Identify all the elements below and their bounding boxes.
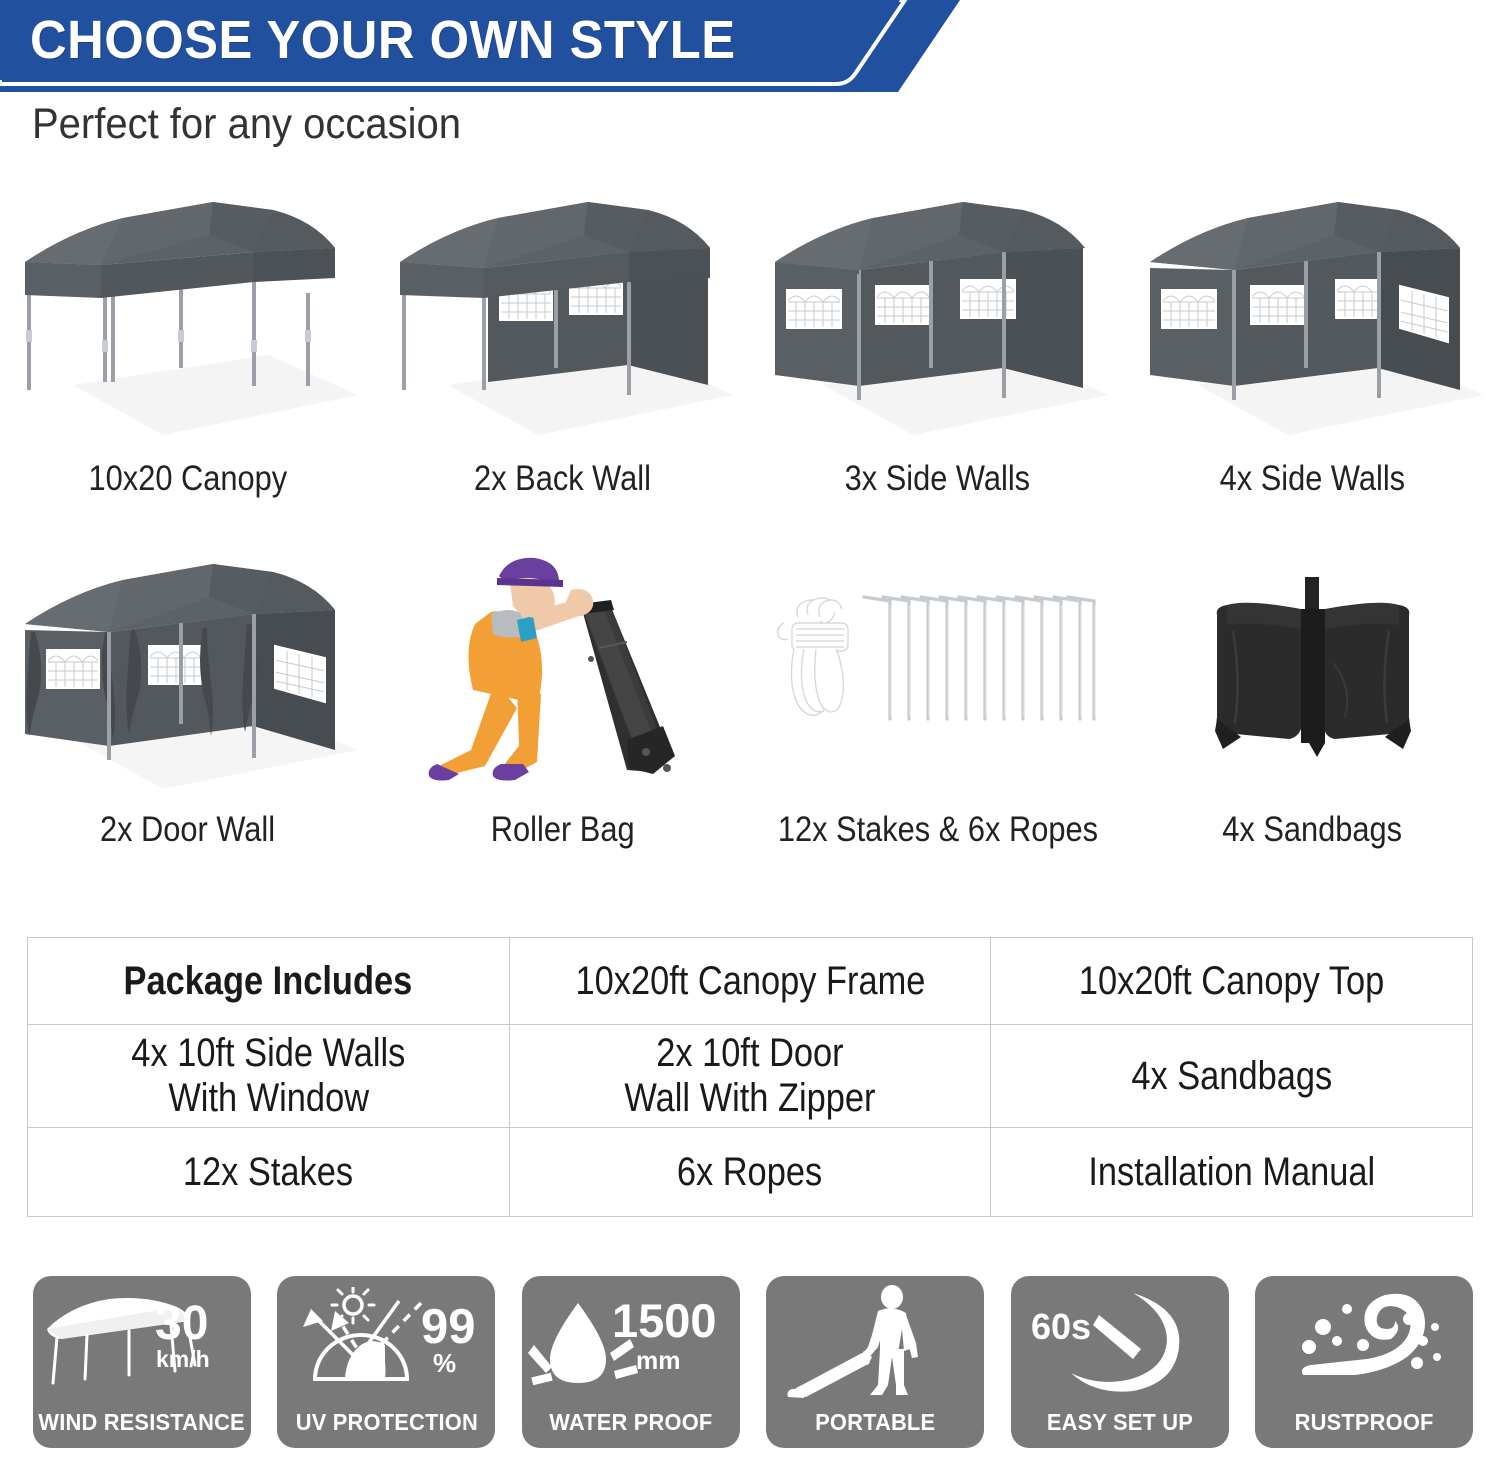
table-cell-package-includes: Package Includes	[28, 938, 510, 1025]
product-label: 10x20 Canopy	[88, 459, 287, 499]
canopy-door-wall-icon	[0, 551, 375, 806]
product-label: 4x Side Walls	[1220, 459, 1405, 499]
product-cell-roller-bag: Roller Bag	[375, 551, 750, 850]
subtitle: Perfect for any occasion	[32, 100, 461, 149]
table-row: Package Includes 10x20ft Canopy Frame 10…	[28, 938, 1473, 1025]
person-carrying-bag-icon	[766, 1276, 984, 1409]
water-droplet-icon: 1500 mm	[522, 1276, 740, 1409]
sandbag-icon	[1125, 551, 1500, 806]
product-cell-3-side-walls: 3x Side Walls	[750, 185, 1125, 499]
product-label: 2x Door Wall	[100, 810, 275, 850]
feature-water-proof: 1500 mm WATER PROOF	[522, 1276, 740, 1448]
product-cell-door-wall: 2x Door Wall	[0, 551, 375, 850]
svg-text:1500: 1500	[612, 1294, 717, 1347]
feature-label: PORTABLE	[815, 1409, 935, 1448]
stakes-ropes-icon	[750, 551, 1125, 806]
product-row-1: 10x20 Canopy	[0, 185, 1500, 499]
product-label: 12x Stakes & 6x Ropes	[777, 810, 1097, 850]
product-label: Roller Bag	[491, 810, 635, 850]
canopy-back-wall-icon	[375, 185, 750, 455]
svg-text:60s: 60s	[1031, 1306, 1091, 1347]
person-roller-bag-icon	[375, 551, 750, 806]
table-cell-stakes: 12x Stakes	[28, 1128, 510, 1217]
feature-label: RUSTPROOF	[1294, 1409, 1433, 1448]
canopy-3-side-walls-icon	[750, 185, 1125, 455]
sun-rays-dome-icon: 99 %	[277, 1276, 495, 1409]
svg-text:km/h: km/h	[156, 1346, 210, 1372]
product-cell-sandbags: 4x Sandbags	[1125, 551, 1500, 850]
wind-swirl-icon	[1255, 1276, 1473, 1409]
feature-label: EASY SET UP	[1046, 1409, 1192, 1448]
feature-portable: PORTABLE	[766, 1276, 984, 1448]
feature-wind-resistance: 30 km/h WIND RESISTANCE	[33, 1276, 251, 1448]
product-label: 3x Side Walls	[845, 459, 1030, 499]
table-cell-sandbags: 4x Sandbags	[991, 1025, 1473, 1128]
table-cell-canopy-top: 10x20ft Canopy Top	[991, 938, 1473, 1025]
table-cell-side-walls: 4x 10ft Side Walls With Window	[28, 1025, 510, 1128]
feature-easy-set-up: 60s EASY SET UP	[1011, 1276, 1229, 1448]
canopy-4-side-walls-icon	[1125, 185, 1500, 455]
product-infographic: CHOOSE YOUR OWN STYLE Perfect for any oc…	[0, 0, 1500, 1459]
svg-text:99: 99	[421, 1300, 476, 1354]
stopwatch-swoosh-icon: 60s	[1011, 1276, 1229, 1409]
table-cell-door-wall: 2x 10ft Door Wall With Zipper	[509, 1025, 991, 1128]
product-label: 2x Back Wall	[474, 459, 651, 499]
table-row: 12x Stakes 6x Ropes Installation Manual	[28, 1128, 1473, 1217]
table-row: 4x 10ft Side Walls With Window 2x 10ft D…	[28, 1025, 1473, 1128]
product-row-2: 2x Door Wall	[0, 551, 1500, 850]
canopy-wind-icon: 30 km/h	[33, 1276, 251, 1409]
feature-rustproof: RUSTPROOF	[1255, 1276, 1473, 1448]
header-banner: CHOOSE YOUR OWN STYLE	[0, 0, 1500, 92]
table-cell-ropes: 6x Ropes	[509, 1128, 991, 1217]
product-label: 4x Sandbags	[1223, 810, 1403, 850]
product-cell-canopy: 10x20 Canopy	[0, 185, 375, 499]
table-cell-canopy-frame: 10x20ft Canopy Frame	[509, 938, 991, 1025]
product-cell-stakes-ropes: 12x Stakes & 6x Ropes	[750, 551, 1125, 850]
feature-badges: 30 km/h WIND RESISTANCE	[33, 1276, 1473, 1448]
product-cell-back-wall: 2x Back Wall	[375, 185, 750, 499]
banner-title: CHOOSE YOUR OWN STYLE	[30, 4, 838, 76]
feature-uv-protection: 99 % UV PROTECTION	[277, 1276, 495, 1448]
table-cell-manual: Installation Manual	[991, 1128, 1473, 1217]
package-includes-table: Package Includes 10x20ft Canopy Frame 10…	[27, 937, 1473, 1217]
svg-text:%: %	[433, 1348, 456, 1378]
product-grid: 10x20 Canopy	[0, 185, 1500, 850]
svg-text:30: 30	[155, 1297, 208, 1350]
feature-label: UV PROTECTION	[295, 1409, 477, 1448]
product-cell-4-side-walls: 4x Side Walls	[1125, 185, 1500, 499]
feature-label: WATER PROOF	[549, 1409, 712, 1448]
canopy-no-walls-icon	[0, 185, 375, 455]
svg-text:mm: mm	[636, 1347, 680, 1375]
feature-label: WIND RESISTANCE	[39, 1409, 245, 1448]
